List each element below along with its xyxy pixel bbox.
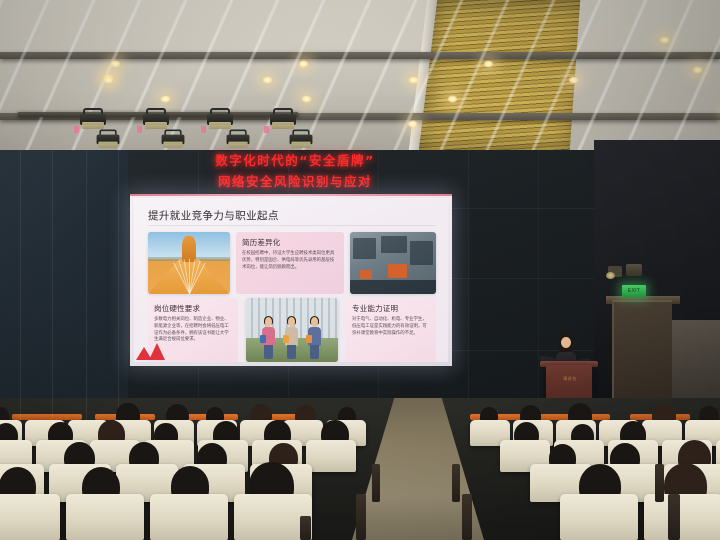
wall-seam [20, 150, 21, 430]
seat-armrest [668, 494, 680, 540]
ceiling-downlight [447, 95, 458, 103]
stage-light-fixture [270, 108, 296, 130]
photo-shape [381, 236, 407, 253]
ceiling-downlight [692, 66, 703, 74]
photo-shape [410, 241, 432, 266]
card-body: 在校园招聘中，持证大学生应聘技术类岗位更具优势，特别是国企、供电局等优先录用的基… [242, 251, 338, 271]
ceiling-downlight [659, 36, 670, 44]
photo-student [307, 317, 323, 359]
lecture-hall-scene: EXIT 数字化时代的“安全盾牌” 网络安全风险识别与应对 提升就业竞争力与职业… [0, 0, 720, 540]
stage-light-fixture [143, 108, 169, 130]
ceiling-downlight [160, 95, 171, 103]
stage-light-fixture [97, 129, 120, 148]
wall-lamp-icon [606, 272, 615, 279]
card-title: 专业能力证明 [352, 303, 430, 314]
photo-student [284, 317, 300, 359]
industrial-equipment-photo [350, 232, 436, 294]
audience-seating [0, 398, 720, 540]
ceiling-downlight [262, 76, 273, 84]
ceiling-downlight [407, 120, 418, 128]
ceiling-stripe [0, 0, 21, 152]
backdrop-seam [538, 150, 539, 420]
audience-seat[interactable] [150, 494, 228, 540]
photo-shape [360, 270, 372, 279]
led-banner-line-1: 数字化时代的“安全盾牌” [130, 150, 460, 171]
slide-triangle-decoration [136, 338, 170, 360]
speaker-face [561, 337, 571, 348]
ceiling-downlight [110, 60, 121, 68]
seat-armrest [655, 464, 664, 502]
photo-student [261, 317, 277, 359]
audience-seat[interactable] [66, 494, 144, 540]
ceiling-downlight [298, 60, 309, 68]
card-body: 对于电气、自动化、机电、专业学生，低压电工证是实践能力的有效证明，可弥补课堂教育… [352, 317, 430, 337]
road-statue-photo [148, 232, 230, 294]
podium-label: 演讲台 [550, 376, 590, 382]
photo-shape [353, 238, 375, 259]
photo-shape [388, 264, 407, 278]
photo-statue [182, 236, 195, 262]
slide-card-resume: 简历差异化 在校园招聘中，持证大学生应聘技术类岗位更具优势，特别是国企、供电局等… [236, 232, 344, 294]
card-title: 岗位硬性要求 [154, 303, 232, 314]
audience-seat[interactable] [0, 494, 60, 540]
wall-seam [52, 150, 53, 430]
slide-content: 提升就业竞争力与职业起点 [134, 198, 448, 362]
light-gel-tag [264, 126, 269, 133]
stage-light-fixture [162, 129, 185, 148]
ceiling-beam [0, 52, 720, 59]
card-title: 简历差异化 [242, 237, 338, 248]
wall-seam [118, 150, 119, 430]
stage-light-fixture [290, 129, 313, 148]
slide-title: 提升就业竞争力与职业起点 [148, 208, 279, 223]
seat-armrest [300, 516, 311, 540]
slide-top-accent [130, 194, 452, 196]
ceiling-downlight [483, 60, 494, 68]
audience-seat[interactable] [560, 494, 638, 540]
stage-light-fixture [80, 108, 106, 130]
light-gel-tag [137, 126, 142, 133]
wall-equipment-box [626, 264, 642, 276]
backdrop-seam [468, 150, 469, 420]
three-students-photo [246, 298, 338, 362]
slide-card-skill-proof: 专业能力证明 对于电气、自动化、机电、专业学生，低压电工证是实践能力的有效证明，… [346, 298, 436, 362]
seat-armrest [452, 464, 460, 502]
ceiling-downlight [408, 76, 419, 84]
light-gel-tag [74, 126, 79, 133]
ceiling-right-panel [570, 0, 720, 150]
slide-title-divider [148, 225, 436, 226]
photo-shape [350, 280, 436, 294]
exit-sign-icon: EXIT [622, 285, 646, 297]
ceiling-downlight [301, 95, 312, 103]
wall-seam [86, 150, 87, 430]
seat-armrest [372, 464, 380, 502]
seat-armrest [356, 494, 366, 540]
ceiling-downlight [103, 76, 114, 84]
seat-armrest [462, 494, 472, 540]
ceiling-downlight [568, 76, 579, 84]
audience-seat[interactable] [306, 440, 356, 472]
stage-light-fixture [207, 108, 233, 130]
light-gel-tag [201, 126, 206, 133]
projection-screen: 提升就业竞争力与职业起点 [130, 194, 452, 366]
stage-light-fixture [227, 129, 250, 148]
